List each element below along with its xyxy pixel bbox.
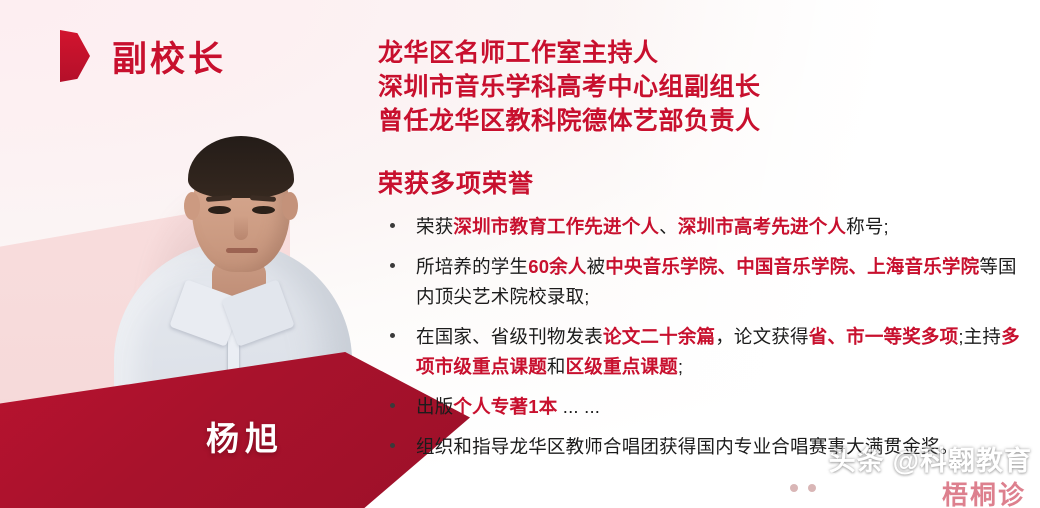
honor-text: ，论文获得 xyxy=(715,326,809,347)
watermark-subtext: 梧桐诊 xyxy=(942,475,1026,508)
honor-text: 荣获 xyxy=(416,216,453,237)
honor-item: 在国家、省级刊物发表论文二十余篇，论文获得省、市一等奖多项;主持多项市级重点课题… xyxy=(378,322,1026,382)
section-title: 荣获多项荣誉 xyxy=(378,164,1026,200)
honor-text: 所培养的学生 xyxy=(416,256,528,277)
honor-text-emphasis: 深圳市教育工作先进个人 xyxy=(453,216,659,237)
honor-text: ; xyxy=(678,356,683,377)
portrait-eye-left xyxy=(208,206,231,214)
headline-block: 龙华区名师工作室主持人 深圳市音乐学科高考中心组副组长 曾任龙华区教科院德体艺部… xyxy=(378,36,1026,138)
honor-text: 在国家、省级刊物发表 xyxy=(416,326,603,347)
watermark-badge-icon xyxy=(778,470,844,508)
portrait-eye-right xyxy=(252,206,275,214)
pennant-icon xyxy=(60,30,90,82)
honor-text-emphasis: 60余人 xyxy=(528,256,586,277)
honor-text: ... ... xyxy=(557,396,600,417)
honor-text: 和 xyxy=(547,356,566,377)
honor-text: 、 xyxy=(659,216,678,237)
portrait-ear-right xyxy=(282,192,298,220)
role-title: 副校长 xyxy=(112,31,226,82)
honor-text: 被 xyxy=(587,256,606,277)
honor-text: 出版 xyxy=(416,396,453,417)
honor-text-emphasis: 个人专著1本 xyxy=(453,396,557,417)
person-name: 杨旭 xyxy=(206,412,284,460)
role-title-row: 副校长 xyxy=(60,30,226,82)
bullet-dot-icon xyxy=(390,403,395,408)
honor-item: 所培养的学生60余人被中央音乐学院、中国音乐学院、上海音乐学院等国内顶尖艺术院校… xyxy=(378,252,1026,312)
honor-text-emphasis: 省、市一等奖多项 xyxy=(809,326,959,347)
headline-line-1: 龙华区名师工作室主持人 xyxy=(378,36,1026,70)
honor-text: 组织和指导龙华区教师合唱团获得国内专业合唱赛事大满贯金奖。 xyxy=(416,436,958,457)
honor-text-emphasis: 区级重点课题 xyxy=(566,356,678,377)
portrait-mouth xyxy=(226,248,258,253)
bullet-dot-icon xyxy=(390,263,395,268)
headline-line-2: 深圳市音乐学科高考中心组副组长 xyxy=(378,70,1026,104)
honor-item: 出版个人专著1本 ... ... xyxy=(378,392,1026,422)
bullet-dot-icon xyxy=(390,223,395,228)
honor-text-emphasis: 论文二十余篇 xyxy=(603,326,715,347)
profile-slide: 副校长 杨旭 龙华区名师工作室主持人 深圳市音乐学科高考中心组副组长 曾任龙华区… xyxy=(0,0,1040,508)
portrait-ear-left xyxy=(184,192,200,220)
honors-list: 荣获深圳市教育工作先进个人、深圳市高考先进个人称号;所培养的学生60余人被中央音… xyxy=(378,212,1026,462)
honor-text-emphasis: 深圳市高考先进个人 xyxy=(678,216,846,237)
bullet-dot-icon xyxy=(390,443,395,448)
honor-item: 荣获深圳市教育工作先进个人、深圳市高考先进个人称号; xyxy=(378,212,1026,242)
honor-text: ;主持 xyxy=(958,326,1001,347)
honor-text: 称号; xyxy=(846,216,889,237)
content-column: 龙华区名师工作室主持人 深圳市音乐学科高考中心组副组长 曾任龙华区教科院德体艺部… xyxy=(378,36,1026,472)
honor-item: 组织和指导龙华区教师合唱团获得国内专业合唱赛事大满贯金奖。 xyxy=(378,432,1026,462)
bullet-dot-icon xyxy=(390,333,395,338)
honor-text-emphasis: 中央音乐学院、中国音乐学院、上海音乐学院 xyxy=(605,256,979,277)
headline-line-3: 曾任龙华区教科院德体艺部负责人 xyxy=(378,104,1026,138)
portrait-nose xyxy=(234,216,248,240)
